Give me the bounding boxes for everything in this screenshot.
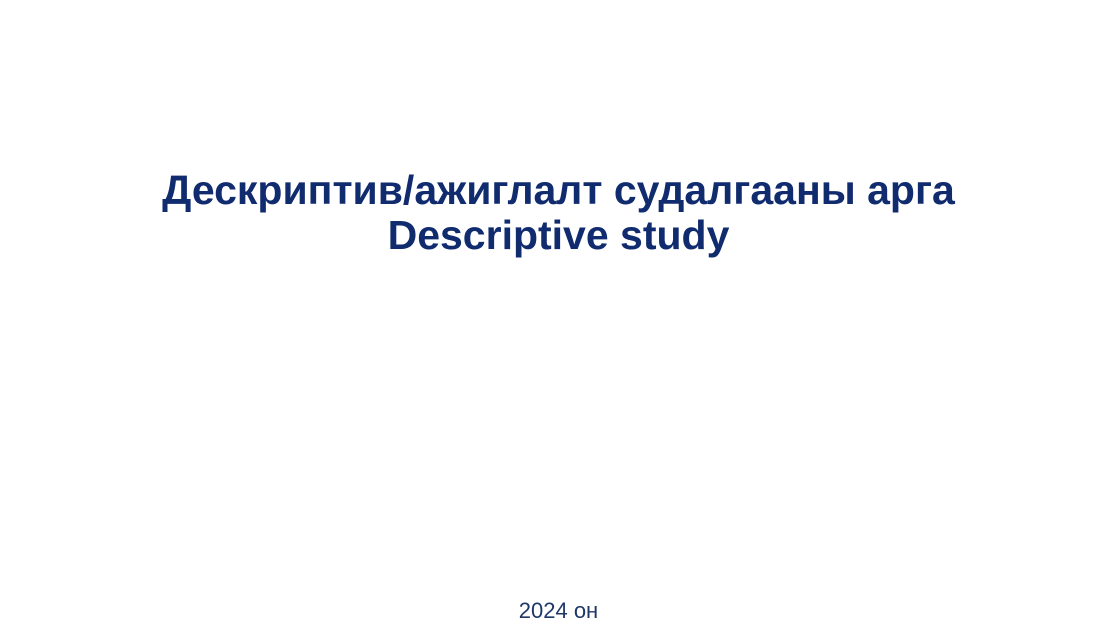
footer-year-label: 2024 он [519, 598, 598, 624]
slide-canvas: Дескриптив/ажиглалт судалгааны арга Desc… [0, 0, 1117, 630]
slide-footer: 2024 он [0, 598, 1117, 624]
slide-title: Дескриптив/ажиглалт судалгааны арга Desc… [0, 168, 1117, 258]
title-line-english: Descriptive study [0, 213, 1117, 258]
title-line-mongolian: Дескриптив/ажиглалт судалгааны арга [0, 168, 1117, 213]
